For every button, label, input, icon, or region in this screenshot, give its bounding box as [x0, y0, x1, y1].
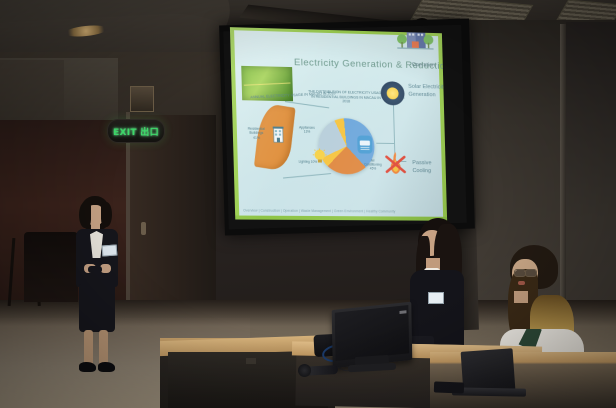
exit-sign: EXIT 出口 [107, 119, 165, 143]
presentation-slide: Electricity Generation & Reduction [230, 27, 447, 221]
eyeglasses-bridge [524, 271, 526, 272]
microphone-head [298, 364, 311, 377]
connector-line [376, 143, 394, 144]
presentation-room-photo: EXIT 出口 Electricity Generation & Reducti… [0, 0, 616, 408]
seated1-name-badge [428, 292, 444, 304]
connector-line [283, 173, 331, 179]
seated2-neck [514, 291, 528, 303]
pie-label-air-conditioning: Air Conditioning 45% [363, 158, 383, 170]
apartment-building-icon [271, 125, 285, 143]
eyeglasses-icon [525, 269, 537, 277]
presenter-shoe [98, 362, 115, 372]
presenter-skirt [79, 284, 115, 332]
passive-cooling-label: Passive Cooling [412, 159, 447, 176]
wall-mounted-box [130, 86, 154, 112]
smartphone[interactable] [434, 381, 464, 393]
pie-chart-title: THE DISTRIBUTION OF ELECTRICITY USAGE IN… [307, 90, 385, 105]
presenter-shoe [79, 362, 96, 372]
lightbulb-icon [313, 148, 328, 164]
cone-label-line3: 41% [243, 135, 270, 140]
monitor-screen[interactable] [335, 305, 409, 361]
presenter-hair-side [101, 202, 112, 227]
podium-latch[interactable] [246, 358, 256, 364]
leaf-vein [244, 83, 291, 86]
cone-chart-segment-label: Residential Buildings 41% [243, 127, 270, 140]
presenter-held-object [88, 266, 102, 273]
cooling-label-line2: Cooling [412, 167, 447, 176]
projection-screen: Electricity Generation & Reduction [219, 19, 475, 236]
standing-presenter [62, 196, 142, 376]
presenter-hair-side [79, 202, 91, 228]
sun-icon [387, 87, 399, 99]
presenter-name-badge [102, 244, 118, 256]
exit-sign-label: EXIT 出口 [113, 125, 159, 138]
pie-label-appliances: Appliances 13% [296, 125, 318, 133]
solar-callout-label: Solar Electricity Generation [408, 83, 447, 100]
section-badge-label: Operation [412, 62, 435, 69]
seated2-lips [518, 281, 525, 285]
solar-label-line2: Generation [408, 91, 447, 100]
building-icon [393, 27, 437, 63]
far-desk [430, 352, 616, 408]
no-fire-icon [384, 151, 406, 175]
air-conditioner-icon [356, 134, 373, 154]
slide-footer-nav: Overview | Construction | Operation | Wa… [243, 208, 395, 213]
